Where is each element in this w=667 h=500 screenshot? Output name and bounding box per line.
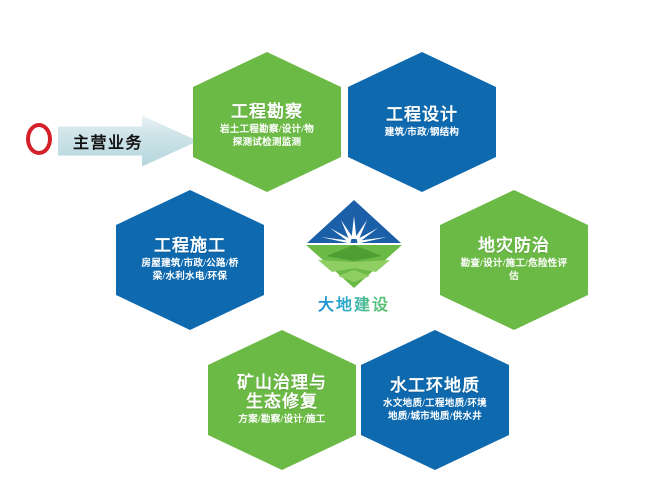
hexagon-title-geohazard: 地灾防治 (468, 236, 560, 255)
hexagon-engineering-design[interactable]: 工程设计 建筑/市政/钢结构 (348, 52, 496, 192)
diagram-canvas: 主营业务 工程勘察 岩土工程勘察/设计/物探测试检测监测 工程设计 建筑/市政/… (0, 0, 667, 500)
hexagon-title-hydrogeology: 水工环地质 (364, 376, 506, 395)
red-circle-icon (26, 123, 52, 155)
diamond-sunrise-landscape-logo-icon (304, 198, 404, 290)
hexagon-engineering-construction[interactable]: 工程施工 房屋建筑/市政/公路/桥梁/水利水电/环保 (116, 190, 264, 330)
hexagon-engineering-survey[interactable]: 工程勘察 岩土工程勘察/设计/物探测试检测监测 (193, 52, 341, 192)
hexagon-subtitle-mine-restoration: 方案/勘察/设计/施工 (216, 414, 347, 427)
hexagon-title-design: 工程设计 (376, 105, 468, 124)
main-business-label: 主营业务 (62, 129, 154, 153)
main-business-banner: 主营业务 (18, 110, 198, 172)
hexagon-geohazard-prevention[interactable]: 地灾防治 勘查/设计/施工/危险性评估 (440, 190, 588, 330)
hexagon-title-mine-restoration: 矿山治理与生态修复 (208, 373, 356, 411)
company-logo: 大地建设 (302, 198, 406, 320)
hexagon-subtitle-hydrogeology: 水文地质/工程地质/环境地质/城市地质/供水井 (361, 398, 509, 424)
hexagon-hydrogeology[interactable]: 水工环地质 水文地质/工程地质/环境地质/城市地质/供水井 (361, 330, 509, 470)
hexagon-mine-restoration[interactable]: 矿山治理与生态修复 方案/勘察/设计/施工 (208, 330, 356, 470)
hexagon-subtitle-survey: 岩土工程勘察/设计/物探测试检测监测 (193, 124, 341, 150)
hexagon-subtitle-geohazard: 勘查/设计/施工/危险性评估 (440, 258, 588, 284)
hexagon-subtitle-construction: 房屋建筑/市政/公路/桥梁/水利水电/环保 (116, 258, 264, 284)
company-logo-text: 大地建设 (318, 291, 390, 315)
hexagon-title-construction: 工程施工 (144, 236, 236, 255)
hexagon-title-survey: 工程勘察 (221, 94, 313, 121)
hexagon-subtitle-design: 建筑/市政/钢结构 (369, 127, 475, 140)
